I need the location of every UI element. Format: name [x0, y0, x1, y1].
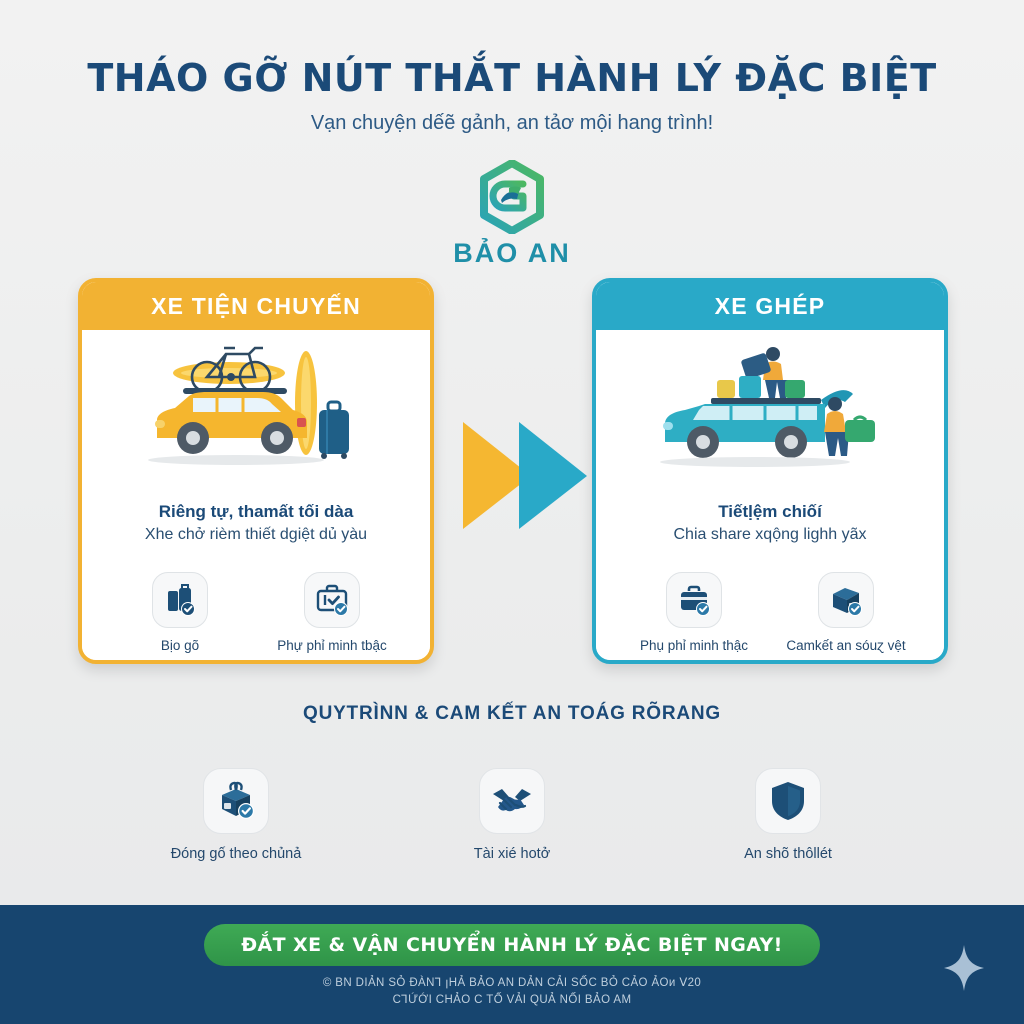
briefcase-check-icon — [304, 572, 360, 628]
feature-bao-go[interactable]: Bịo gõ — [110, 572, 250, 653]
card-body-left: Riêng tự, thamất tối dàa Xhe chở rièm th… — [82, 330, 430, 660]
feature-cam-ket-an-toan[interactable]: Camkết an sóuɀ vệt — [776, 572, 916, 653]
shield-icon — [755, 768, 821, 834]
process-items: Đóng gố theo chủnả Tài xié hotở — [0, 768, 1024, 862]
footer-line-1: © BN DIẢN SỎ ĐÀNꞀ ꞁHẢ BẢO AN DẢN CẢI SỐC… — [0, 975, 1024, 992]
brand-name: BẢO AN — [0, 238, 1024, 269]
card-caption-strong-left: Riêng tự, thamất tối dàa — [82, 502, 430, 522]
page-subtitle: Vạn chuyện dếẽ gảnh, an tảơ mội hang trì… — [0, 112, 1024, 135]
feature-phu-phi-minh-bach-right[interactable]: Phụ phỉ minh thậc — [624, 572, 764, 653]
process-item-label: An shõ thôllét — [693, 846, 883, 862]
double-arrow-right-icon — [455, 418, 595, 533]
hexagon-g-logo-icon — [0, 160, 1024, 234]
process-item-label: Đóng gố theo chủnả — [141, 846, 331, 862]
card-header-left: XE TIỆN CHUYẾN — [82, 282, 430, 330]
feature-label: Camkết an sóuɀ vệt — [776, 638, 916, 653]
infographic-page: THÁO GỠ NÚT THẮT HÀNH LÝ ĐẶC BIỆT Vạn ch… — [0, 0, 1024, 1024]
sparkle-icon — [942, 943, 986, 998]
handshake-icon — [479, 768, 545, 834]
card-caption-sub-right: Chia share xqộng lighh yãx — [596, 526, 944, 544]
card-caption-left: Riêng tự, thamất tối dàa Xhe chở rièm th… — [82, 502, 430, 544]
card-xe-tien-chuyen[interactable]: XE TIỆN CHUYẾN — [78, 278, 434, 664]
open-box-check-icon — [203, 768, 269, 834]
box-check-icon — [818, 572, 874, 628]
card-header-right: XE GHÉP — [596, 282, 944, 330]
process-section-title: QUYTRÌNN & CAM KẾT AN TOÁG RÕRANG — [0, 703, 1024, 725]
feature-label: Bịo gõ — [110, 638, 250, 653]
footer: ĐẮT XE & VẬN CHUYỂN HÀNH LÝ ĐẶC BIỆT NGA… — [0, 905, 1024, 1024]
yellow-suv-with-bike-surfboard-icon — [82, 338, 430, 478]
footer-disclaimer: © BN DIẢN SỎ ĐÀNꞀ ꞁHẢ BẢO AN DẢN CẢI SỐC… — [0, 975, 1024, 1009]
card-caption-sub-left: Xhe chở rièm thiết dgiệt dủ yàu — [82, 526, 430, 544]
briefcase-check-icon — [666, 572, 722, 628]
card-feature-row-right: Phụ phỉ minh thậc — [596, 572, 944, 653]
card-caption-right: Tiếtḷệm chiốí Chia share xqộng lighh yãx — [596, 502, 944, 544]
header: THÁO GỠ NÚT THẮT HÀNH LÝ ĐẶC BIỆT Vạn ch… — [0, 0, 1024, 135]
footer-line-2: CꞀỨỚI CHẢO C TỐ VẢI QUẢ NỐI BẢO AM — [0, 992, 1024, 1009]
process-item-an-toan[interactable]: An shõ thôllét — [693, 768, 883, 862]
luggage-check-icon — [152, 572, 208, 628]
process-item-tai-xe[interactable]: Tài xié hotở — [417, 768, 607, 862]
brand-logo: BẢO AN — [0, 160, 1024, 269]
cta-book-button[interactable]: ĐẮT XE & VẬN CHUYỂN HÀNH LÝ ĐẶC BIỆT NGA… — [204, 924, 820, 966]
process-item-dong-goi[interactable]: Đóng gố theo chủnả — [141, 768, 331, 862]
feature-phu-phi-minh-bach[interactable]: Phự phỉ minh tbậc — [262, 572, 402, 653]
feature-label: Phự phỉ minh tbậc — [262, 638, 402, 653]
teal-minivan-loading-luggage-icon — [596, 338, 944, 478]
card-feature-row-left: Bịo gõ — [82, 572, 430, 653]
card-body-right: Tiếtḷệm chiốí Chia share xqộng lighh yãx — [596, 330, 944, 660]
card-xe-ghep[interactable]: XE GHÉP — [592, 278, 948, 664]
process-item-label: Tài xié hotở — [417, 846, 607, 862]
card-caption-strong-right: Tiếtḷệm chiốí — [596, 502, 944, 522]
page-title: THÁO GỠ NÚT THẮT HÀNH LÝ ĐẶC BIỆT — [0, 56, 1024, 100]
feature-label: Phụ phỉ minh thậc — [624, 638, 764, 653]
